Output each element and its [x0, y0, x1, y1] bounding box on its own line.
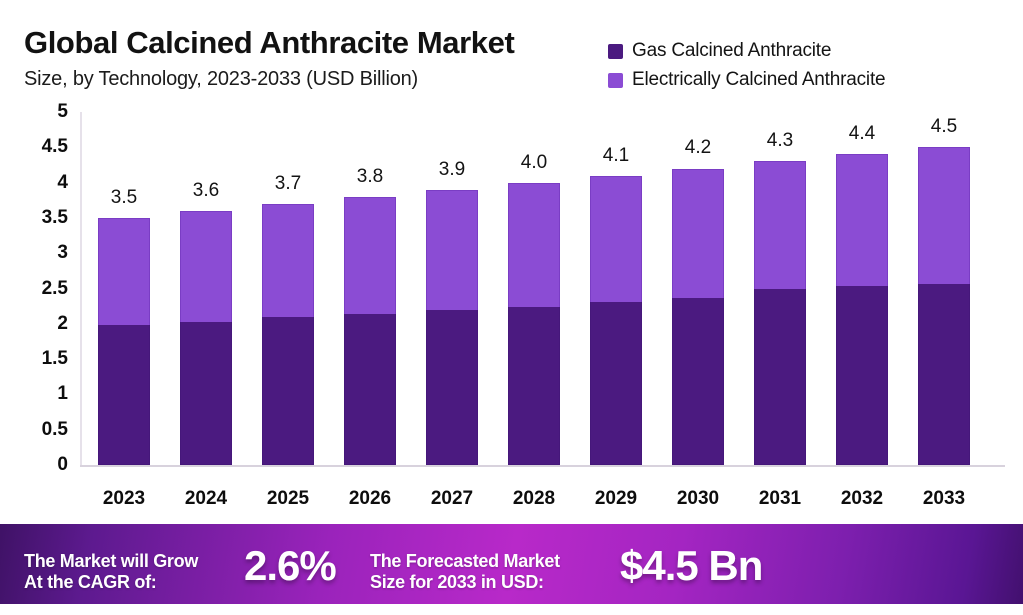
legend-swatch-icon [608, 73, 623, 88]
bar-group[interactable]: 4.52033 [918, 147, 970, 465]
legend-swatch-icon [608, 44, 623, 59]
bar-value-label: 4.5 [931, 116, 957, 138]
legend-item-label: Electrically Calcined Anthracite [632, 69, 885, 91]
page-title: Global Calcined Anthracite Market [24, 25, 514, 61]
bar-segment-gas-calcined-anthracite[interactable] [262, 317, 314, 465]
bar-group[interactable]: 3.92027 [426, 190, 478, 465]
bar-group[interactable]: 4.02028 [508, 183, 560, 465]
x-axis-tick-label: 2032 [841, 488, 883, 510]
footer-banner: The Market will Grow At the CAGR of: 2.6… [0, 524, 1023, 604]
bar-segment-gas-calcined-anthracite[interactable] [590, 302, 642, 465]
y-axis-tick-label: 5 [57, 101, 68, 123]
bar-segment-electrically-calcined-anthracite[interactable] [426, 190, 478, 310]
bar-group[interactable]: 4.22030 [672, 169, 724, 466]
x-axis-tick-label: 2026 [349, 488, 391, 510]
x-axis-tick-label: 2023 [103, 488, 145, 510]
bar-segment-electrically-calcined-anthracite[interactable] [180, 211, 232, 322]
bar-segment-gas-calcined-anthracite[interactable] [426, 310, 478, 465]
bar-segment-gas-calcined-anthracite[interactable] [754, 289, 806, 466]
bar-value-label: 4.0 [521, 152, 547, 174]
bar-group[interactable]: 3.72025 [262, 204, 314, 465]
bar-segment-electrically-calcined-anthracite[interactable] [672, 169, 724, 298]
chart-infographic: Global Calcined Anthracite Market Size, … [0, 0, 1023, 615]
legend-item-label: Gas Calcined Anthracite [632, 40, 831, 62]
y-axis-tick-label: 0.5 [42, 419, 68, 441]
y-axis-tick-label: 3 [57, 242, 68, 264]
bar-value-label: 4.4 [849, 123, 875, 145]
bar-value-label: 3.5 [111, 187, 137, 209]
bar-segment-electrically-calcined-anthracite[interactable] [344, 197, 396, 314]
bar-group[interactable]: 4.42032 [836, 154, 888, 465]
cagr-value: 2.6% [244, 542, 336, 590]
bar-segment-electrically-calcined-anthracite[interactable] [98, 218, 150, 325]
bar-segment-gas-calcined-anthracite[interactable] [508, 307, 560, 465]
bar-segment-electrically-calcined-anthracite[interactable] [836, 154, 888, 286]
y-axis-tick-label: 4.5 [42, 136, 68, 158]
x-axis-tick-label: 2030 [677, 488, 719, 510]
x-axis-tick-label: 2024 [185, 488, 227, 510]
bar-group[interactable]: 4.12029 [590, 176, 642, 465]
forecast-value: $4.5 Bn [620, 542, 762, 590]
bar-segment-electrically-calcined-anthracite[interactable] [508, 183, 560, 307]
bar-segment-gas-calcined-anthracite[interactable] [180, 322, 232, 465]
bar-group[interactable]: 3.52023 [98, 218, 150, 465]
x-axis-tick-label: 2029 [595, 488, 637, 510]
x-axis-tick-label: 2025 [267, 488, 309, 510]
x-axis-tick-label: 2033 [923, 488, 965, 510]
bar-value-label: 4.3 [767, 130, 793, 152]
bar-segment-electrically-calcined-anthracite[interactable] [262, 204, 314, 318]
bar-value-label: 3.8 [357, 166, 383, 188]
x-axis-tick-label: 2031 [759, 488, 801, 510]
x-axis-tick-label: 2027 [431, 488, 473, 510]
bar-segment-gas-calcined-anthracite[interactable] [918, 284, 970, 465]
bar-value-label: 4.2 [685, 137, 711, 159]
cagr-label: The Market will Grow At the CAGR of: [24, 551, 198, 593]
bar-value-label: 3.6 [193, 180, 219, 202]
bar-group[interactable]: 4.32031 [754, 161, 806, 465]
y-axis-tick-label: 1 [57, 383, 68, 405]
y-axis-tick-label: 4 [57, 172, 68, 194]
y-axis-tick-label: 2 [57, 313, 68, 335]
y-axis-tick-label: 0 [57, 454, 68, 476]
bar-series-container: 3.520233.620243.720253.820263.920274.020… [82, 100, 1012, 520]
bar-segment-gas-calcined-anthracite[interactable] [98, 325, 150, 465]
bar-segment-gas-calcined-anthracite[interactable] [836, 286, 888, 465]
plot-area: 00.511.522.533.544.55 3.520233.620243.72… [0, 100, 1023, 520]
chart-header: Global Calcined Anthracite Market Size, … [0, 0, 1023, 100]
bar-segment-gas-calcined-anthracite[interactable] [344, 314, 396, 465]
y-axis-tick-label: 3.5 [42, 207, 68, 229]
legend-item[interactable]: Electrically Calcined Anthracite [608, 67, 885, 93]
bar-segment-electrically-calcined-anthracite[interactable] [590, 176, 642, 302]
bar-segment-electrically-calcined-anthracite[interactable] [918, 147, 970, 284]
bar-group[interactable]: 3.82026 [344, 197, 396, 465]
page-subtitle: Size, by Technology, 2023-2033 (USD Bill… [24, 68, 418, 91]
x-axis-tick-label: 2028 [513, 488, 555, 510]
bar-group[interactable]: 3.62024 [180, 211, 232, 465]
legend-item[interactable]: Gas Calcined Anthracite [608, 38, 885, 64]
chart-legend: Gas Calcined AnthraciteElectrically Calc… [608, 38, 885, 96]
y-axis-tick-label: 1.5 [42, 348, 68, 370]
bar-segment-gas-calcined-anthracite[interactable] [672, 298, 724, 465]
bar-value-label: 4.1 [603, 145, 629, 167]
bar-segment-electrically-calcined-anthracite[interactable] [754, 161, 806, 288]
bar-value-label: 3.7 [275, 173, 301, 195]
footer-bottom-divider [0, 604, 1023, 615]
forecast-label: The Forecasted Market Size for 2033 in U… [370, 551, 560, 593]
y-axis: 00.511.522.533.544.55 [0, 100, 80, 520]
y-axis-tick-label: 2.5 [42, 278, 68, 300]
bar-value-label: 3.9 [439, 159, 465, 181]
